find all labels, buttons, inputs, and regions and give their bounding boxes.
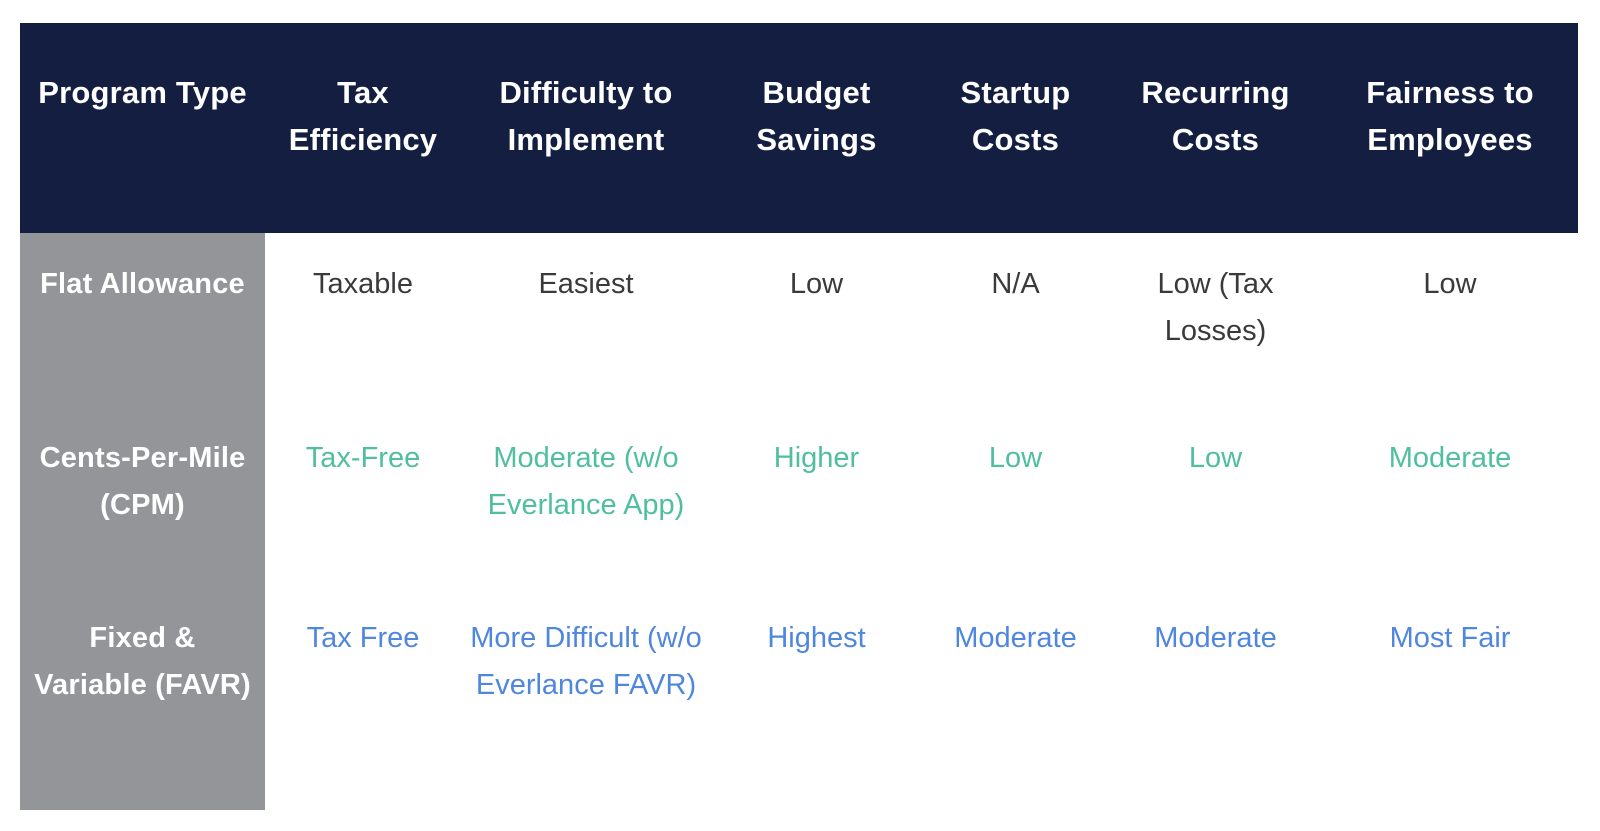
comparison-table-image: Program Type Tax Efficiency Difficulty t… bbox=[0, 0, 1600, 831]
table-body: Flat Allowance Taxable Easiest Low N/A L… bbox=[20, 233, 1578, 810]
cell-flat-budget-savings: Low bbox=[711, 233, 922, 413]
cell-favr-recurring-costs: Moderate bbox=[1109, 593, 1322, 810]
cell-cpm-budget-savings: Higher bbox=[711, 413, 922, 593]
cell-favr-budget-savings: Highest bbox=[711, 593, 922, 810]
table-row: Flat Allowance Taxable Easiest Low N/A L… bbox=[20, 233, 1578, 413]
column-header-difficulty-to-implement: Difficulty to Implement bbox=[461, 23, 711, 233]
row-header-flat-allowance: Flat Allowance bbox=[20, 233, 265, 413]
cell-favr-difficulty-to-implement: More Difficult (w/o Everlance FAVR) bbox=[461, 593, 711, 810]
cell-cpm-tax-efficiency: Tax-Free bbox=[265, 413, 461, 593]
cell-cpm-startup-costs: Low bbox=[922, 413, 1109, 593]
cell-flat-difficulty-to-implement: Easiest bbox=[461, 233, 711, 413]
cell-flat-startup-costs: N/A bbox=[922, 233, 1109, 413]
column-header-budget-savings: Budget Savings bbox=[711, 23, 922, 233]
cell-favr-tax-efficiency: Tax Free bbox=[265, 593, 461, 810]
cell-flat-recurring-costs: Low (Tax Losses) bbox=[1109, 233, 1322, 413]
row-header-cents-per-mile: Cents-Per-Mile (CPM) bbox=[20, 413, 265, 593]
column-header-tax-efficiency: Tax Efficiency bbox=[265, 23, 461, 233]
table-row: Fixed & Variable (FAVR) Tax Free More Di… bbox=[20, 593, 1578, 810]
column-header-fairness-to-employees: Fairness to Employees bbox=[1322, 23, 1578, 233]
column-header-startup-costs: Startup Costs bbox=[922, 23, 1109, 233]
table-row: Cents-Per-Mile (CPM) Tax-Free Moderate (… bbox=[20, 413, 1578, 593]
cell-favr-startup-costs: Moderate bbox=[922, 593, 1109, 810]
header-row: Program Type Tax Efficiency Difficulty t… bbox=[20, 23, 1578, 233]
cell-flat-fairness-to-employees: Low bbox=[1322, 233, 1578, 413]
program-type-comparison-table: Program Type Tax Efficiency Difficulty t… bbox=[20, 23, 1578, 810]
column-header-program-type: Program Type bbox=[20, 23, 265, 233]
cell-favr-fairness-to-employees: Most Fair bbox=[1322, 593, 1578, 810]
column-header-recurring-costs: Recurring Costs bbox=[1109, 23, 1322, 233]
cell-flat-tax-efficiency: Taxable bbox=[265, 233, 461, 413]
cell-cpm-recurring-costs: Low bbox=[1109, 413, 1322, 593]
row-header-fixed-and-variable: Fixed & Variable (FAVR) bbox=[20, 593, 265, 810]
cell-cpm-fairness-to-employees: Moderate bbox=[1322, 413, 1578, 593]
table-header: Program Type Tax Efficiency Difficulty t… bbox=[20, 23, 1578, 233]
cell-cpm-difficulty-to-implement: Moderate (w/o Everlance App) bbox=[461, 413, 711, 593]
